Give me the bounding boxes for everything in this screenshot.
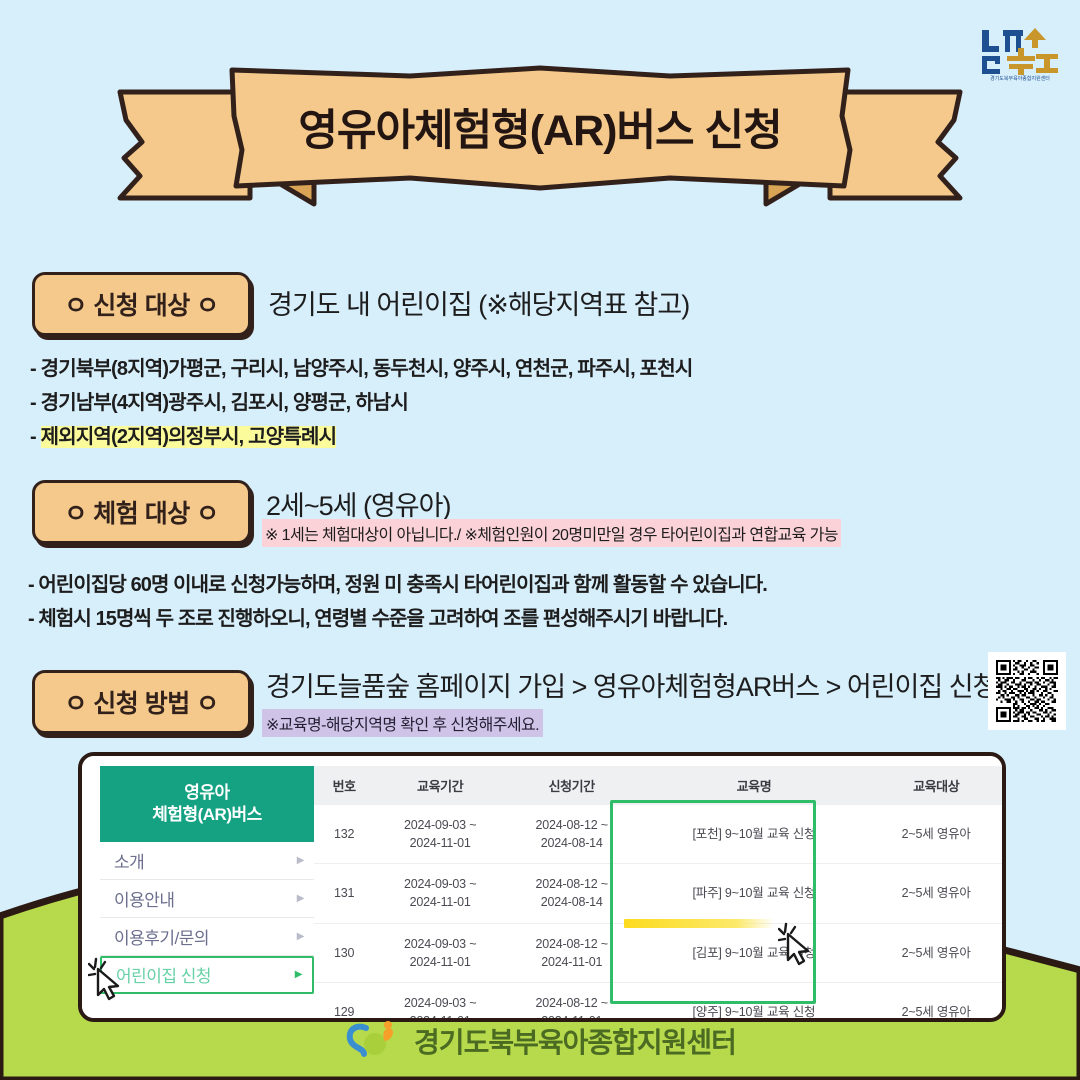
brand-logo-subtext: 경기도북부육아종합지원센터 [990, 75, 1050, 82]
chevron-right-icon: ▶ [297, 893, 304, 904]
table-header-row: 번호 교육기간 신청기간 교육명 교육대상 [314, 766, 1002, 805]
screenshot-table-area: 번호 교육기간 신청기간 교육명 교육대상 132 2024-09-03 ~ 2… [314, 756, 1002, 1018]
apply-to: 2024-08-14 [508, 893, 636, 911]
method-heading: 경기도늘품숲 홈페이지 가입 > 영유아체험형AR버스 > 어린이집 신청 [266, 665, 996, 704]
sidebar-title-line1: 영유아 [106, 782, 308, 804]
target-line-north: - 경기북부(8지역)가평군, 구리시, 남양주시, 동두천시, 양주시, 연천… [30, 352, 692, 381]
col-header-apply: 신청기간 [506, 766, 638, 805]
period-from: 2024-09-03 ~ [376, 935, 504, 953]
mouse-cursor-sidebar [88, 955, 128, 1003]
sidebar-item-label: 어린이집 신청 [116, 962, 295, 987]
footer: 경기도북부육아종합지원센터 [0, 1010, 1080, 1072]
page-title: 영유아체험형(AR)버스 신청 [240, 92, 840, 162]
target-line-south: - 경기남부(4지역)광주시, 김포시, 양평군, 하남시 [30, 386, 408, 415]
cell-period: 2024-09-03 ~ 2024-11-01 [374, 864, 506, 923]
chevron-right-icon: ▶ [297, 855, 304, 866]
section-pill-method: ㅇ 신청 방법 ㅇ [32, 670, 251, 734]
excluded-highlight: 제외지역(2지역)의정부시, 고양특례시 [41, 426, 337, 448]
cell-education-name[interactable]: [포천] 9~10월 교육 신청 [637, 805, 870, 864]
experience-body-line-1: - 어린이집당 60명 이내로 신청가능하며, 정원 미 충족시 타어린이집과 … [28, 568, 767, 597]
footer-org-name: 경기도북부육아종합지원센터 [414, 1021, 736, 1061]
target-line-excluded: - 제외지역(2지역)의정부시, 고양특례시 [30, 420, 336, 449]
period-to: 2024-11-01 [376, 953, 504, 971]
sidebar-title-line2: 체험형(AR)버스 [106, 804, 308, 826]
apply-to: 2024-11-01 [508, 953, 636, 971]
table-row[interactable]: 131 2024-09-03 ~ 2024-11-01 2024-08-12 ~… [314, 864, 1002, 923]
poster-root: 경기도북부육아종합지원센터 영유아체험형(AR)버스 신청 ㅇ 신청 대상 ㅇ … [0, 0, 1080, 1080]
col-header-period: 교육기간 [374, 766, 506, 805]
mouse-cursor-table-row [778, 920, 818, 968]
experience-body-line-2: - 체험시 15명씩 두 조로 진행하오니, 연령별 수준을 고려하여 조를 편… [28, 602, 727, 631]
chevron-right-icon: ▶ [297, 931, 304, 942]
cell-no: 130 [314, 923, 374, 982]
section-pill-experience: ㅇ 체험 대상 ㅇ [32, 480, 251, 544]
period-to: 2024-11-01 [376, 834, 504, 852]
sidebar-item-daycare-apply[interactable]: 어린이집 신청 ▶ [100, 956, 314, 994]
period-to: 2024-11-01 [376, 893, 504, 911]
cell-apply: 2024-08-12 ~ 2024-08-14 [506, 864, 638, 923]
qr-code-icon [996, 660, 1058, 722]
method-note: ※교육명-해당지역명 확인 후 신청해주세요. [262, 709, 543, 737]
cell-target: 2~5세 영유아 [870, 864, 1002, 923]
center-logo-icon [344, 1020, 406, 1062]
excluded-dash: - [30, 426, 41, 448]
cell-apply: 2024-08-12 ~ 2024-11-01 [506, 923, 638, 982]
sidebar-item-intro[interactable]: 소개 ▶ [100, 842, 314, 880]
sidebar-item-label: 이용후기/문의 [114, 924, 297, 949]
cell-no: 131 [314, 864, 374, 923]
target-heading: 경기도 내 어린이집 (※해당지역표 참고) [268, 283, 689, 322]
education-table: 번호 교육기간 신청기간 교육명 교육대상 132 2024-09-03 ~ 2… [314, 766, 1002, 1022]
cell-target: 2~5세 영유아 [870, 923, 1002, 982]
cell-period: 2024-09-03 ~ 2024-11-01 [374, 923, 506, 982]
sidebar-item-label: 소개 [114, 848, 297, 873]
cell-education-name[interactable]: [파주] 9~10월 교육 신청 [637, 864, 870, 923]
period-from: 2024-09-03 ~ [376, 816, 504, 834]
table-row[interactable]: 130 2024-09-03 ~ 2024-11-01 2024-08-12 ~… [314, 923, 1002, 982]
sidebar-item-usage-guide[interactable]: 이용안내 ▶ [100, 880, 314, 918]
cell-education-name[interactable]: [김포] 9~10월 교육 신청 [637, 923, 870, 982]
apply-from: 2024-08-12 ~ [508, 816, 636, 834]
cell-target: 2~5세 영유아 [870, 805, 1002, 864]
chevron-right-icon: ▶ [295, 969, 302, 980]
experience-note: ※ 1세는 체험대상이 아닙니다./ ※체험인원이 20명미만일 경우 타어린이… [262, 519, 841, 547]
sidebar-title: 영유아 체험형(AR)버스 [100, 766, 314, 842]
col-header-target: 교육대상 [870, 766, 1002, 805]
section-pill-target: ㅇ 신청 대상 ㅇ [32, 272, 251, 336]
col-header-no: 번호 [314, 766, 374, 805]
sidebar-item-reviews-inquiry[interactable]: 이용후기/문의 ▶ [100, 918, 314, 956]
qr-code-box[interactable] [988, 652, 1066, 730]
neulpumsup-brand-logo: 경기도북부육아종합지원센터 [974, 18, 1066, 82]
yellow-highlight-marker [624, 919, 774, 928]
apply-from: 2024-08-12 ~ [508, 935, 636, 953]
table-row[interactable]: 132 2024-09-03 ~ 2024-11-01 2024-08-12 ~… [314, 805, 1002, 864]
experience-heading: 2세~5세 (영유아) [266, 484, 450, 523]
sidebar-item-label: 이용안내 [114, 886, 297, 911]
apply-to: 2024-08-14 [508, 834, 636, 852]
cell-no: 132 [314, 805, 374, 864]
apply-from: 2024-08-12 ~ [508, 875, 636, 893]
website-screenshot-card: 영유아 체험형(AR)버스 소개 ▶ 이용안내 ▶ 이용후기/문의 ▶ 어린이집… [78, 752, 1006, 1022]
period-from: 2024-09-03 ~ [376, 875, 504, 893]
cell-apply: 2024-08-12 ~ 2024-08-14 [506, 805, 638, 864]
cell-period: 2024-09-03 ~ 2024-11-01 [374, 805, 506, 864]
col-header-name: 교육명 [637, 766, 870, 805]
